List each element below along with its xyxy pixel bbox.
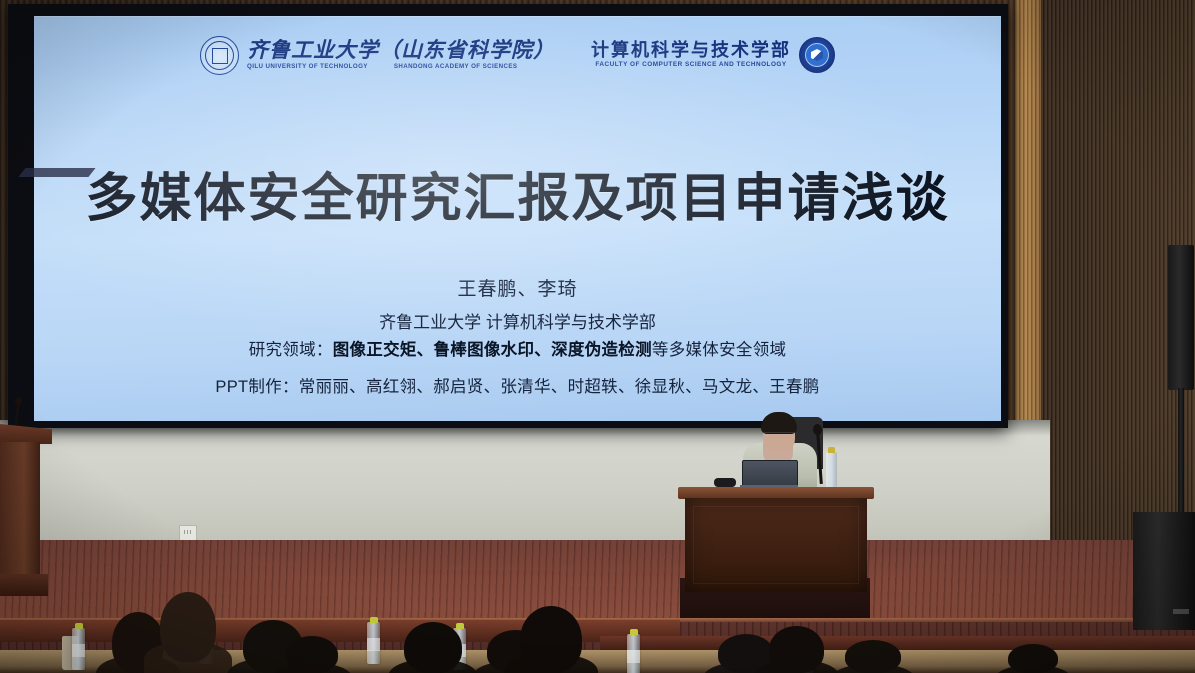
- university-name-en: QILU UNIVERSITY OF TECHNOLOGY SHANDONG A…: [247, 64, 555, 70]
- university-name-cn: 齐鲁工业大学（山东省科学院）: [247, 40, 555, 61]
- audience-water-bottle: [367, 622, 380, 664]
- audience-member-head: [286, 636, 338, 673]
- presentation-slide: 齐鲁工业大学（山东省科学院） QILU UNIVERSITY OF TECHNO…: [34, 16, 1001, 421]
- lectern-top: [0, 424, 52, 444]
- projection-screen: 齐鲁工业大学（山东省科学院） QILU UNIVERSITY OF TECHNO…: [34, 16, 1001, 421]
- lectern: [0, 424, 52, 600]
- university-name-en-right: SHANDONG ACADEMY OF SCIENCES: [394, 64, 518, 70]
- presenter-water-bottle: [826, 452, 837, 488]
- audience-member-head: [520, 606, 582, 673]
- conference-hall-photo: 齐鲁工业大学（山东省科学院） QILU UNIVERSITY OF TECHNO…: [0, 0, 1195, 673]
- presenter-hair: [761, 412, 797, 434]
- faculty-name-en: FACULTY OF COMPUTER SCIENCE AND TECHNOLO…: [595, 62, 786, 68]
- credits-names: 常丽丽、高红翎、郝启贤、张清华、时超轶、徐显秋、马文龙、王春鹏: [299, 378, 820, 396]
- faculty-logo-group: 计算机科学与技术学部 FACULTY OF COMPUTER SCIENCE A…: [591, 37, 835, 73]
- slide-header: 齐鲁工业大学（山东省科学院） QILU UNIVERSITY OF TECHNO…: [34, 24, 1001, 86]
- research-fields-label: 研究领域：: [249, 341, 333, 359]
- laptop-screen: [742, 460, 798, 488]
- faculty-wordmark: 计算机科学与技术学部 FACULTY OF COMPUTER SCIENCE A…: [591, 41, 791, 68]
- subwoofer-cabinet: [1133, 512, 1195, 630]
- desk-front-panel: [685, 498, 867, 592]
- speaker-stand-pole: [1178, 388, 1184, 518]
- lectern-body: [0, 442, 40, 580]
- plaster-wall: [0, 420, 1050, 545]
- presenter-glasses-icon: [764, 432, 794, 438]
- slide-credits: PPT制作：常丽丽、高红翎、郝启贤、张清华、时超轶、徐显秋、马文龙、王春鹏: [34, 373, 1001, 397]
- slide-research-fields: 研究领域：图像正交矩、鲁棒图像水印、深度伪造检测等多媒体安全领域: [34, 336, 1001, 360]
- slide-authors: 王春鹏、李琦: [34, 274, 1001, 301]
- audience-member-head: [160, 592, 216, 662]
- audience-member-head: [769, 626, 824, 673]
- audience-water-bottle: [627, 634, 640, 673]
- floor-mat: [18, 168, 95, 177]
- audience-member-head: [845, 640, 901, 673]
- slide-affiliation: 齐鲁工业大学 计算机科学与技术学部: [34, 308, 1001, 333]
- audience-member-head: [1008, 644, 1058, 673]
- lectern-base: [0, 574, 48, 596]
- line-array-speaker: [1168, 245, 1194, 390]
- desk-accessory: [714, 478, 736, 487]
- research-fields-bold: 图像正交矩、鲁棒图像水印、深度伪造检测: [333, 341, 652, 359]
- projection-screen-frame: 齐鲁工业大学（山东省科学院） QILU UNIVERSITY OF TECHNO…: [8, 4, 1008, 428]
- faculty-name-cn: 计算机科学与技术学部: [591, 41, 791, 59]
- research-fields-tail: 等多媒体安全领域: [652, 341, 786, 359]
- qilu-university-seal-icon: [200, 36, 239, 75]
- university-logo-group: 齐鲁工业大学（山东省科学院） QILU UNIVERSITY OF TECHNO…: [200, 36, 555, 75]
- university-name-en-left: QILU UNIVERSITY OF TECHNOLOGY: [247, 64, 368, 70]
- credits-label: PPT制作：: [215, 378, 298, 396]
- presenter-desk: [678, 487, 874, 592]
- audience-water-bottle: [72, 628, 85, 670]
- university-wordmark: 齐鲁工业大学（山东省科学院） QILU UNIVERSITY OF TECHNO…: [247, 40, 555, 70]
- slide-title: 多媒体安全研究汇报及项目申请浅谈: [34, 156, 1001, 231]
- presenter-laptop: [740, 460, 798, 490]
- audience-member-head: [404, 622, 462, 673]
- faculty-seal-icon: [799, 37, 835, 73]
